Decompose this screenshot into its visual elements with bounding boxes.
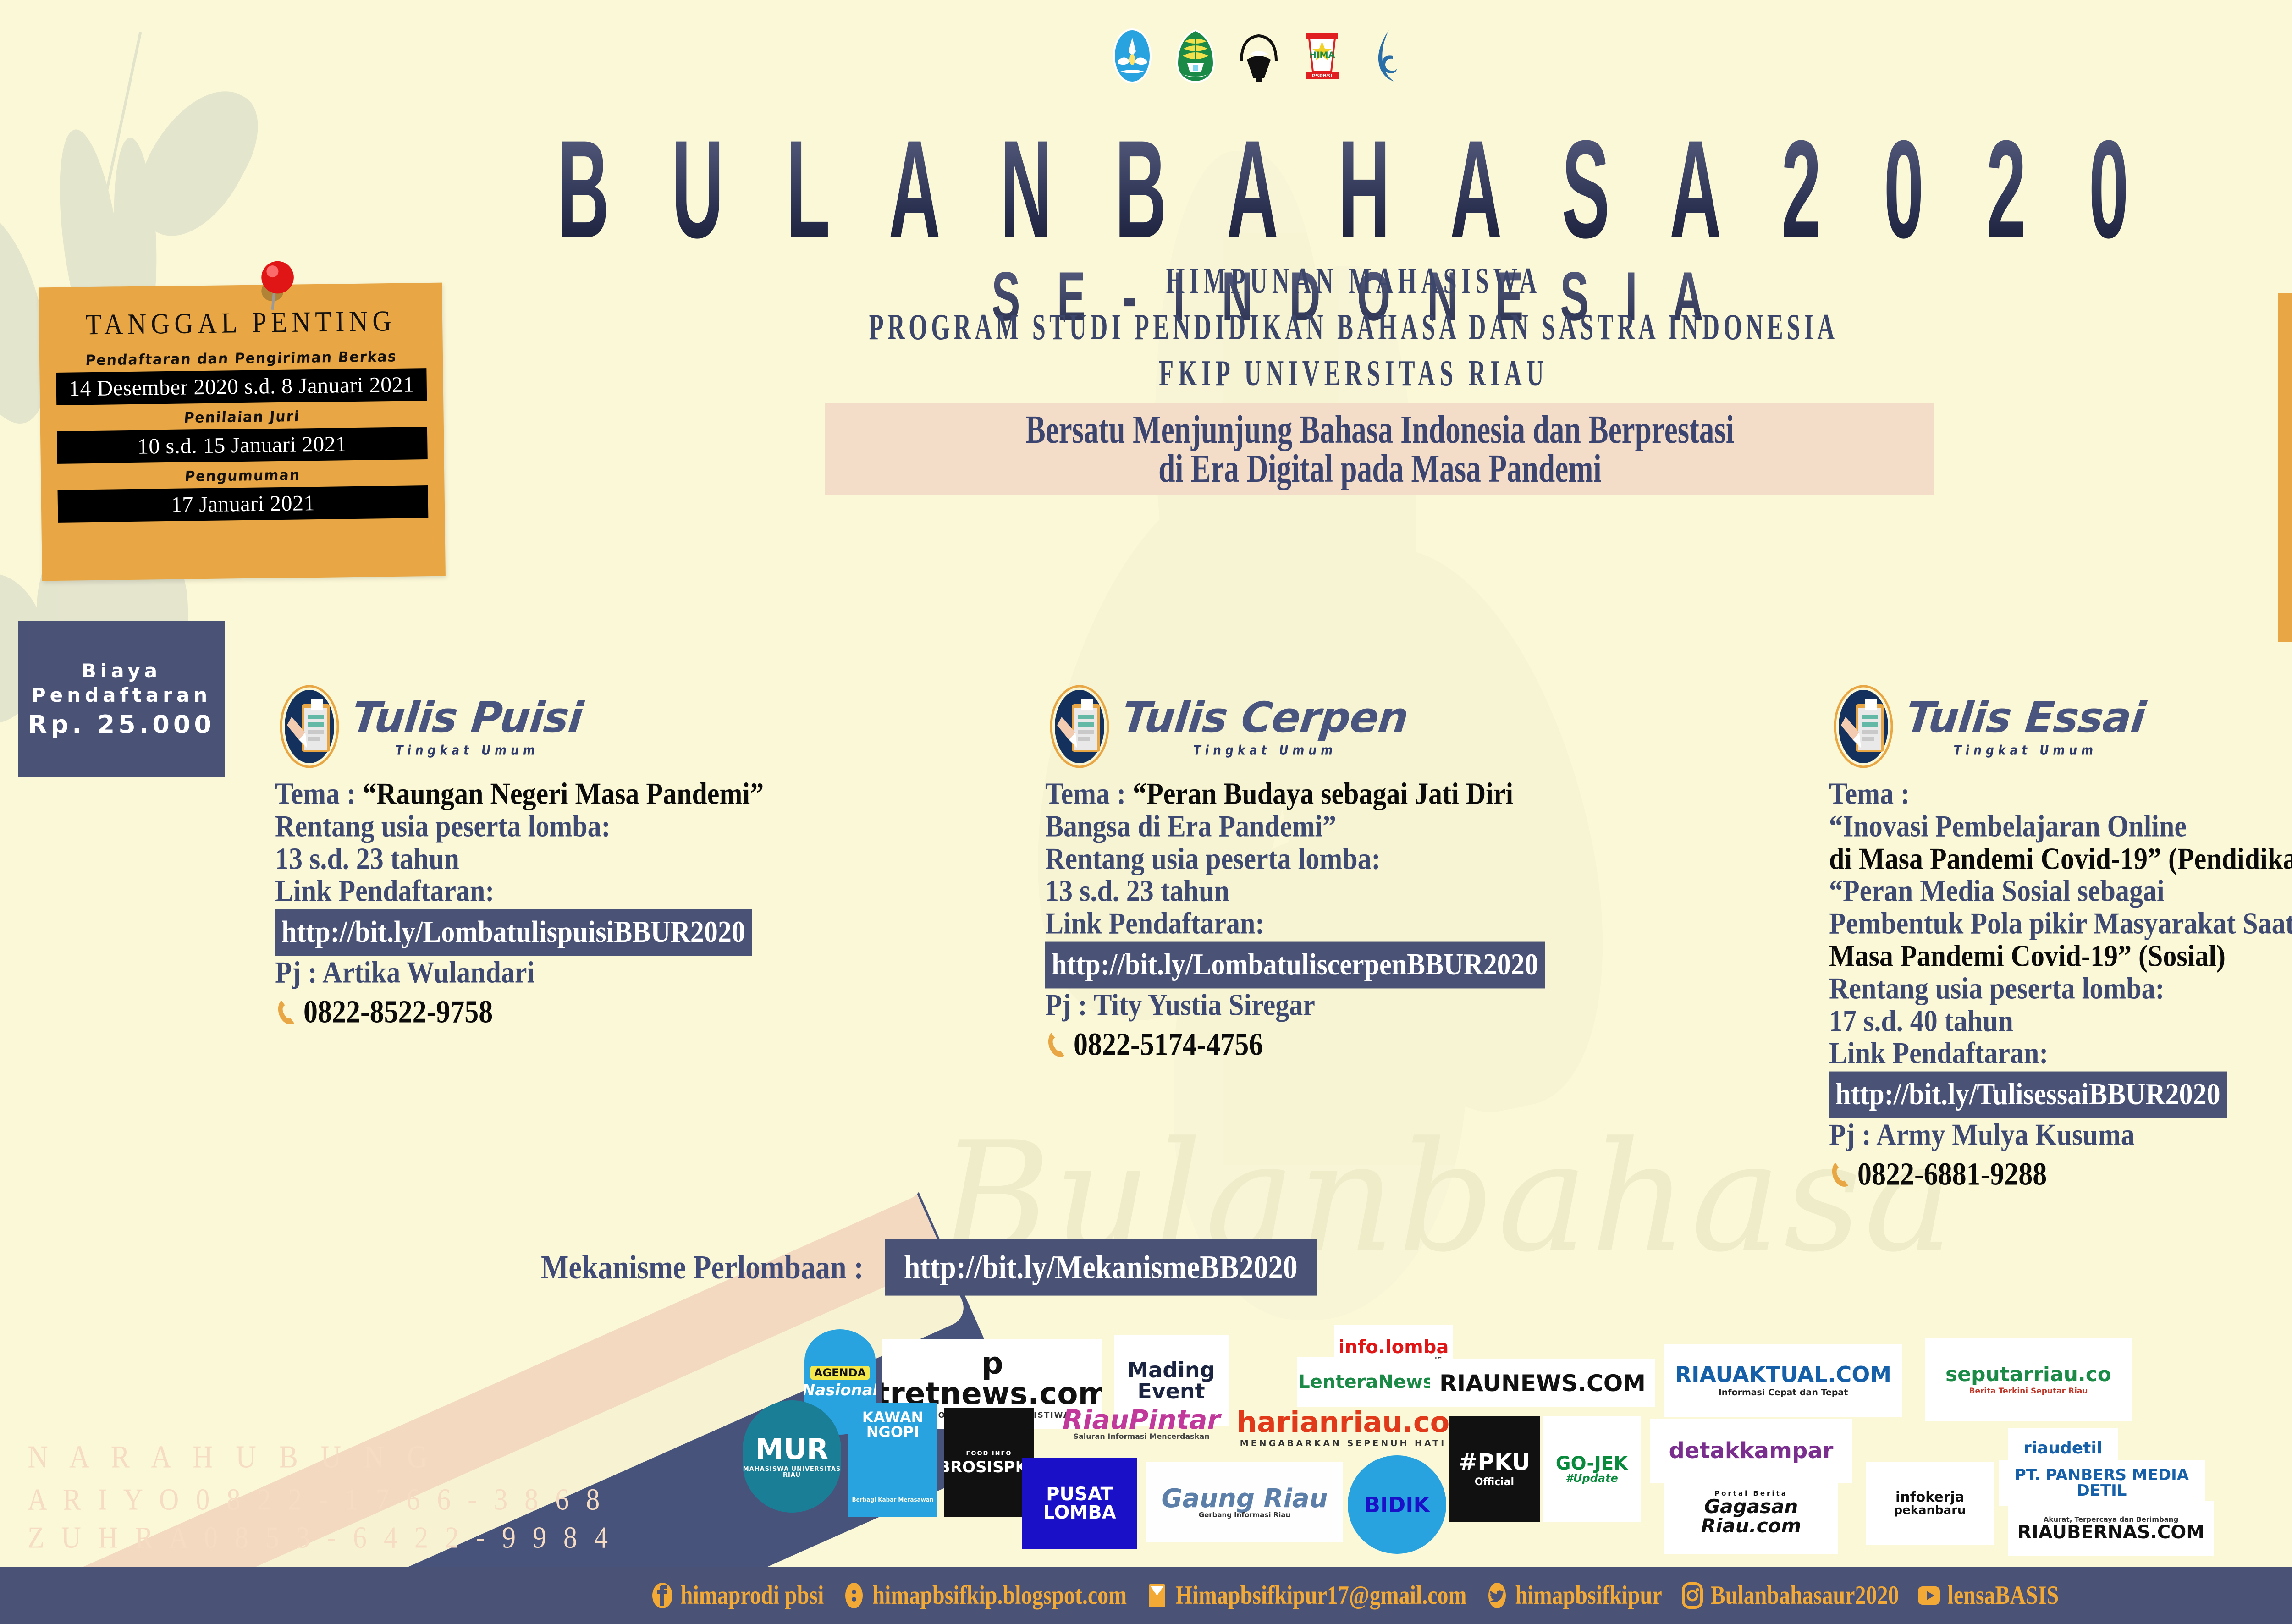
fee-label-line2: Pendaftaran: [32, 684, 211, 706]
social-handle-facebook[interactable]: himaprodi pbsi: [681, 1580, 824, 1610]
partner-agenda-nasional-line2: Nasional: [804, 1382, 876, 1398]
phone-icon: [275, 998, 300, 1026]
hima-pspbsi-logo: HIMA PSPBSI: [1299, 28, 1350, 92]
email-icon[interactable]: [1143, 1582, 1171, 1609]
instagram-icon[interactable]: [1679, 1582, 1706, 1609]
phone-icon: [1045, 1030, 1070, 1059]
partner-bidik-line1: BIDIK: [1364, 1494, 1430, 1515]
phone-number-cerpen: 0822-5174-4756: [1074, 1027, 1263, 1063]
media-partners-grid: AGENDA Nasional p tretnews.com MEMOTRET …: [752, 1325, 2292, 1517]
competition-title-cerpen: Tulis Cerpen: [1120, 697, 1410, 739]
partner-riauaktual: RIAUAKTUAL.COM Informasi Cepat dan Tepat: [1664, 1344, 1902, 1417]
social-item-twitter[interactable]: himapbsifkipur: [1483, 1582, 1662, 1609]
partner-harianriau: harianriau.co MENGABARKAN SEPENUH HATI: [1215, 1393, 1471, 1462]
social-handle-twitter[interactable]: himapbsifkipur: [1515, 1580, 1662, 1610]
usia-label-cerpen: Rentang usia peserta lomba:: [1045, 840, 1788, 876]
partner-gaungriau-line2: Gerbang Informasi Riau: [1199, 1512, 1290, 1519]
registration-link-cerpen[interactable]: http://bit.ly/LombatuliscerpenBBUR2020: [1045, 942, 1545, 989]
social-item-email[interactable]: Himapbsifkipur17@gmail.com: [1143, 1582, 1466, 1609]
tema-text-essai-1: “Inovasi Pembelajaran Online: [1829, 808, 2292, 844]
social-handle-youtube[interactable]: lensaBASIS: [1947, 1580, 2059, 1610]
pj-essai: Pj : Army Mulya Kusuma: [1829, 1117, 2292, 1153]
partner-infokerja-line1: infokerja: [1895, 1491, 1964, 1504]
registration-fee-box: Biaya Pendaftaran Rp. 25.000: [18, 621, 225, 777]
tema-text-puisi: “Raungan Negeri Masa Pandemi”: [363, 776, 764, 810]
partner-riaupintar-line1: RiauPintar: [1063, 1406, 1220, 1433]
date-value-2: 10 s.d. 15 Januari 2021: [57, 427, 428, 464]
partner-pusat-lomba: PUSAT LOMBA: [1022, 1458, 1137, 1549]
social-item-instagram[interactable]: Bulanbahasaur2020: [1679, 1582, 1899, 1609]
usia-label-puisi: Rentang usia peserta lomba:: [275, 808, 1018, 844]
partner-brosispku: FOOD INFO BROSISPKU: [944, 1408, 1034, 1517]
tema-label-cerpen: Tema :: [1045, 776, 1133, 810]
partner-infokerja-pekanbaru: infokerja pekanbaru: [1866, 1462, 1994, 1545]
prize-line-1: Uang Pembinaan: [2278, 378, 2292, 405]
partner-harianriau-line1: harianriau.co: [1237, 1408, 1450, 1437]
theme-line-2: di Era Digital pada Masa Pandemi: [1158, 448, 1602, 489]
organization-block: HIMPUNAN MAHASISWA PROGRAM STUDI PENDIDI…: [0, 266, 2292, 388]
partner-riauaktual-line1: RIAUAKTUAL.COM: [1675, 1364, 1891, 1386]
prize-line-3: e- sertifikat untuk: [2278, 488, 2292, 515]
social-handle-email[interactable]: Himapbsifkipur17@gmail.com: [1175, 1580, 1466, 1610]
org-line-2: PROGRAM STUDI PENDIDIKAN BAHASA DAN SAST…: [108, 306, 2292, 348]
link-label-essai: Link Pendaftaran:: [1829, 1035, 2292, 1071]
blogger-icon[interactable]: [840, 1582, 868, 1609]
prize-line-6: peserta lomba: [2278, 569, 2292, 596]
logo-row: HIMA PSPBSI: [1109, 28, 1414, 92]
partner-mur: MUR MAHASISWA UNIVERSITAS RIAU: [743, 1400, 841, 1513]
partner-kawanngopi-line2: Berbagi Kabar Merasawan: [852, 1497, 933, 1503]
pj-puisi: Pj : Artika Wulandari: [275, 954, 1018, 991]
basis-swoosh-logo: [1362, 28, 1414, 92]
competition-title-puisi: Tulis Puisi: [350, 697, 584, 739]
clipboard-pencil-badge-icon: [1045, 683, 1114, 770]
org-line-3: FKIP UNIVERSITAS RIAU: [108, 352, 2292, 394]
registration-link-essai[interactable]: http://bit.ly/TulisessaiBBUR2020: [1829, 1072, 2227, 1118]
tema-text-essai-3: “Peran Media Sosial sebagai: [1829, 873, 2292, 909]
partner-riaunews-line1: RIAUNEWS.COM: [1439, 1372, 1646, 1395]
partner-kawanngopi-line1: KAWAN NGOPI: [848, 1410, 937, 1439]
partner-riauaktual-line2: Informasi Cepat dan Tepat: [1719, 1388, 1848, 1397]
partner-harianriau-line2: MENGABARKAN SEPENUH HATI: [1240, 1439, 1446, 1448]
prize-plus: +: [2278, 439, 2292, 466]
usia-label-essai: Rentang usia peserta lomba:: [1829, 970, 2292, 1007]
partner-mur-line1: MUR: [755, 1435, 829, 1464]
contact-1: A R I Y O 0 8 2 2 - 1 7 6 6 - 3 8 6 8: [28, 1482, 613, 1517]
theme-banner: Bersatu Menjunjung Bahasa Indonesia dan …: [825, 403, 1934, 495]
partner-seputarriau: seputarriau.co Berita Terkini Seputar Ri…: [1925, 1338, 2132, 1421]
competition-column-cerpen: Tulis Cerpen Tingkat Umum Tema : “Peran …: [1045, 688, 1788, 1061]
partner-gojek-update: GO-JEK #Update: [1543, 1416, 1641, 1522]
phone-icon: [1829, 1160, 1854, 1189]
partner-pku-line1: #PKU: [1458, 1451, 1530, 1474]
push-pin-icon: [248, 260, 303, 320]
partner-gaung-riau: Gaung Riau Gerbang Informasi Riau: [1146, 1462, 1343, 1542]
org-line-1: HIMPUNAN MAHASISWA: [108, 259, 2292, 302]
partner-seputarriau-line1: seputarriau.co: [1945, 1365, 2111, 1385]
usia-value-puisi: 13 s.d. 23 tahun: [275, 840, 1018, 876]
registration-link-puisi[interactable]: http://bit.ly/LombatulispuisiBBUR2020: [275, 909, 752, 956]
theme-line-1: Bersatu Menjunjung Bahasa Indonesia dan …: [1025, 409, 1734, 450]
social-item-youtube[interactable]: lensaBASIS: [1915, 1582, 2059, 1609]
prize-box: H a d i a h Uang Pembinaan Juara 1 s.d 3…: [2278, 293, 2292, 642]
partner-gojek-line1: GO-JEK: [1556, 1454, 1628, 1473]
phone-number-puisi: 0822-8522-9758: [303, 994, 493, 1031]
tema-text-essai-2: di Masa Pandemi Covid-19” (Pendidikan): [1829, 842, 2292, 875]
link-label-puisi: Link Pendaftaran:: [275, 873, 1018, 909]
partner-riaudetil-line1: riaudetil: [2023, 1440, 2102, 1457]
partner-seputarriau-line2: Berita Terkini Seputar Riau: [1969, 1387, 2088, 1395]
fkip-logo: [1236, 28, 1287, 92]
phone-number-essai: 0822-6881-9288: [1857, 1156, 2047, 1193]
tema-label-essai: Tema :: [1829, 776, 2292, 812]
partner-agenda-nasional-line1: AGENDA: [810, 1366, 870, 1380]
prize-line-2: Juara 1 s.d 3: [2278, 405, 2292, 432]
competition-column-essai: Tulis Essai Tingkat Umum Tema : “Inovasi…: [1829, 688, 2292, 1191]
svg-text:HIMA: HIMA: [1309, 50, 1335, 60]
partner-riaubernas-line1: RIAUBERNAS.COM: [2017, 1523, 2204, 1541]
tema-text-cerpen-2: Bangsa di Era Pandemi”: [1045, 808, 1788, 844]
partner-panbers-line1: PT. PANBERS MEDIA DETIL: [1999, 1467, 2205, 1498]
usia-value-essai: 17 s.d. 40 tahun: [1829, 1002, 2292, 1039]
clipboard-pencil-badge-icon: [1829, 683, 1898, 770]
competition-level-cerpen: Tingkat Umum: [1121, 742, 1409, 757]
facebook-icon[interactable]: [649, 1582, 676, 1609]
tema-text-cerpen-1: “Peran Budaya sebagai Jati Diri: [1133, 776, 1513, 810]
contact-block: N A R A H U B U N G A R I Y O 0 8 2 2 - …: [28, 1441, 613, 1560]
partner-bidik: BIDIK: [1348, 1455, 1446, 1554]
tut-wuri-handayani-logo: [1109, 28, 1161, 92]
partner-gojek-line2: #Update: [1565, 1473, 1618, 1484]
clipboard-pencil-badge-icon: [275, 683, 344, 770]
partner-riaubernas: Akurat, Terpercaya dan Berimbang RIAUBER…: [2008, 1501, 2214, 1556]
partner-gagasan-line1: Gagasan Riau.com: [1664, 1497, 1838, 1536]
prize-title: H a d i a h: [2278, 321, 2292, 356]
prize-line-4: seluruh pemenang: [2278, 515, 2292, 542]
social-footer-bar: himaprodi pbsi himapbsifkip.blogspot.com…: [0, 1567, 2292, 1624]
partner-mur-line2: MAHASISWA UNIVERSITAS RIAU: [743, 1466, 841, 1478]
prize-line-5: dan: [2278, 542, 2292, 569]
pj-cerpen: Pj : Tity Yustia Siregar: [1045, 987, 1788, 1023]
tema-text-essai-5: Masa Pandemi Covid-19” (Sosial): [1829, 939, 2226, 973]
partner-mading-line1: Mading: [1127, 1360, 1215, 1381]
social-item-blogger[interactable]: himapbsifkip.blogspot.com: [840, 1582, 1127, 1609]
partner-panbers-media-detil: PT. PANBERS MEDIA DETIL: [1999, 1460, 2205, 1506]
social-handle-blogger[interactable]: himapbsifkip.blogspot.com: [872, 1580, 1127, 1610]
partner-gaungriau-line1: Gaung Riau: [1161, 1486, 1328, 1512]
partner-gagasan-riau: Portal Berita Gagasan Riau.com: [1664, 1471, 1838, 1554]
competition-level-essai: Tingkat Umum: [1905, 742, 2146, 757]
usia-value-cerpen: 13 s.d. 23 tahun: [1045, 873, 1788, 909]
contact-title: N A R A H U B U N G: [28, 1439, 613, 1476]
partner-pku-line2: Official: [1475, 1477, 1514, 1487]
twitter-icon[interactable]: [1483, 1582, 1511, 1609]
date-label-3: Pengumuman: [57, 465, 429, 487]
fee-amount: Rp. 25.000: [28, 710, 215, 739]
universitas-riau-logo: [1173, 28, 1224, 92]
link-label-cerpen: Link Pendaftaran:: [1045, 905, 1788, 941]
partner-riaupintar: RiauPintar Saluran Informasi Mencerdaska…: [1045, 1389, 1238, 1458]
competition-level-puisi: Tingkat Umum: [351, 742, 584, 757]
social-handle-instagram[interactable]: Bulanbahasaur2020: [1711, 1580, 1899, 1610]
mechanism-label: Mekanisme Perlombaan :: [541, 1248, 864, 1287]
competition-column-puisi: Tulis Puisi Tingkat Umum Tema : “Raungan…: [275, 688, 1018, 1029]
fee-label-line1: Biaya: [82, 660, 161, 682]
partner-infolomba-line1: info.lomba: [1339, 1338, 1449, 1356]
mechanism-row: Mekanisme Perlombaan : http://bit.ly/Mek…: [541, 1242, 1317, 1293]
partner-infokerja-line2: pekanbaru: [1894, 1504, 1966, 1516]
partner-brosispku-line2: FOOD INFO: [966, 1451, 1012, 1457]
social-item-facebook[interactable]: himaprodi pbsi: [649, 1582, 824, 1609]
partner-riaupintar-line2: Saluran Informasi Mencerdaskan: [1073, 1433, 1209, 1440]
partner-pku-official: #PKU Official: [1449, 1416, 1540, 1522]
tema-label-puisi: Tema :: [275, 776, 363, 810]
partner-pusatlomba-line1: PUSAT LOMBA: [1022, 1485, 1137, 1522]
competition-title-essai: Tulis Essai: [1904, 697, 2147, 739]
partner-brosispku-line1: BROSISPKU: [944, 1459, 1034, 1475]
tema-text-essai-4: Pembentuk Pola pikir Masyarakat Saat: [1829, 905, 2292, 941]
date-label-2: Penilaian Juri: [56, 407, 428, 428]
date-value-3: 17 Januari 2021: [58, 485, 429, 523]
partner-lentera-line1: LenteraNews: [1298, 1373, 1433, 1391]
mechanism-link[interactable]: http://bit.ly/MekanismeBB2020: [885, 1239, 1317, 1295]
partner-detakkampar-line1: detakkampar: [1669, 1440, 1834, 1462]
youtube-icon[interactable]: [1915, 1582, 1943, 1609]
page-title: B U L A N B A H A S A 2 0 2 0: [271, 121, 2292, 258]
poster-root: Bulanbahasa: [0, 0, 2292, 1624]
svg-text:PSPBSI: PSPBSI: [1312, 73, 1332, 79]
contact-2: Z U H R A 0 8 5 3 - 6 4 2 2 - 9 9 8 4: [28, 1520, 613, 1555]
partner-kawan-ngopi: KAWAN NGOPI Berbagi Kabar Merasawan: [848, 1403, 937, 1517]
